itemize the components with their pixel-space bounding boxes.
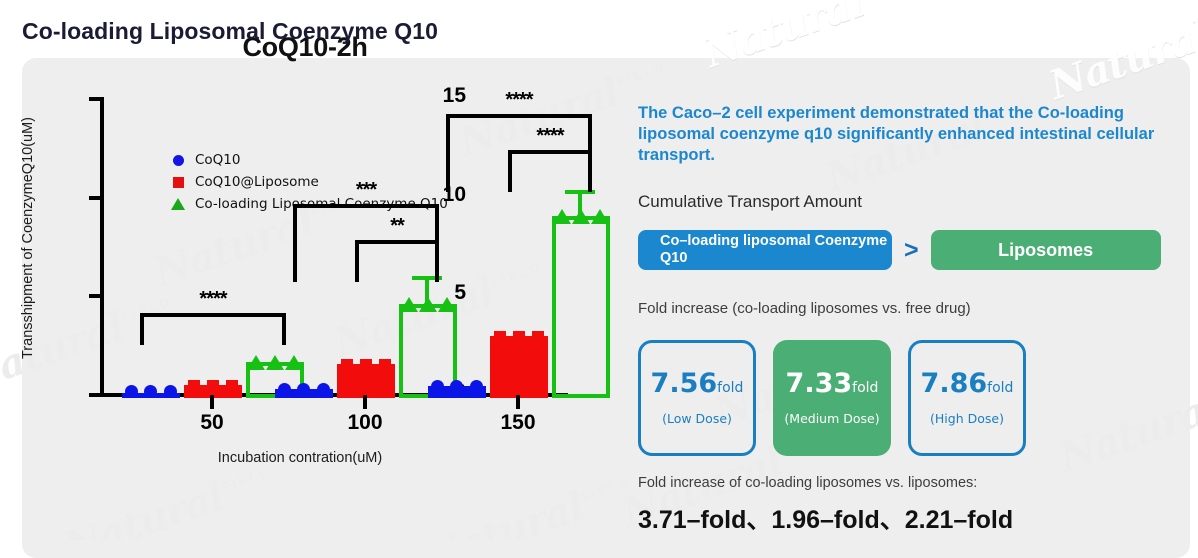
bottom-fold-values: 3.71–fold、1.96–fold、2.21–fold <box>638 500 1013 536</box>
fold-box-low-dose: 7.56fold (Low Dose) <box>638 340 756 456</box>
fold-value: 7.86 <box>921 368 988 399</box>
fold-box-high-dose: 7.86fold (High Dose) <box>908 340 1026 456</box>
significance-stars: *** <box>293 179 439 202</box>
x-tick <box>516 395 520 409</box>
datapoints-liposome-50 <box>184 380 242 392</box>
datapoints-coq10-150 <box>428 380 486 393</box>
fold-increase-caption: Fold increase (co-loading liposomes vs. … <box>638 300 971 317</box>
pill-coloading-liposomal[interactable]: Co–loading liposomal Coenzyme Q10 <box>638 230 892 270</box>
significance-stars: **** <box>446 89 592 112</box>
bottom-caption: Fold increase of co-loading liposomes vs… <box>638 475 977 491</box>
fold-value-row: 7.56fold <box>651 370 744 397</box>
datapoints-coq10-50 <box>122 385 180 398</box>
fold-unit: fold <box>852 380 878 396</box>
datapoints-coloading-150 <box>552 209 610 224</box>
datapoints-coloading-100 <box>399 297 457 312</box>
greater-than-icon: > <box>904 238 919 263</box>
datapoints-liposome-150 <box>490 331 548 343</box>
fold-dose-label: (High Dose) <box>930 411 1004 426</box>
x-tick <box>363 395 367 409</box>
fold-dose-label: (Medium Dose) <box>784 411 879 426</box>
y-axis-label: Transshipment of CoenzymeQ10(uM) <box>20 88 36 388</box>
y-tick <box>89 393 100 397</box>
y-tick <box>89 294 100 298</box>
fold-value-row: 7.33fold <box>786 370 879 397</box>
bar-coloading-150 <box>552 216 610 398</box>
chart-panel: CoQ10-2h Transshipment of CoenzymeQ10(uM… <box>0 0 610 500</box>
significance-bracket-50: **** <box>140 313 286 345</box>
headline-text: The Caco–2 cell experiment demonstrated … <box>638 103 1183 166</box>
significance-bracket-150-inner: **** <box>508 150 592 192</box>
x-tick-label: 100 <box>347 411 382 435</box>
fold-value-row: 7.86fold <box>921 370 1014 397</box>
fold-dose-label: (Low Dose) <box>662 411 732 426</box>
comparison-row: Co–loading liposomal Coenzyme Q10 > Lipo… <box>638 230 1161 270</box>
x-axis-label: Incubation contration(uM) <box>90 450 510 466</box>
fold-box-medium-dose: 7.33fold (Medium Dose) <box>773 340 891 456</box>
significance-stars: ** <box>355 215 439 238</box>
y-tick <box>89 196 100 200</box>
significance-stars: **** <box>140 288 286 311</box>
fold-value: 7.33 <box>786 368 853 399</box>
fold-value: 7.56 <box>651 368 718 399</box>
x-tick-label: 50 <box>200 411 223 435</box>
datapoints-coloading-50 <box>246 355 304 370</box>
y-tick <box>89 97 100 101</box>
fold-unit: fold <box>717 380 743 396</box>
significance-stars: **** <box>508 125 592 148</box>
datapoints-coq10-100 <box>275 383 333 396</box>
plot-area: 0 5 10 15 **** 50 <box>100 95 570 400</box>
pill-liposomes[interactable]: Liposomes <box>931 230 1161 270</box>
fold-box-group: 7.56fold (Low Dose) 7.33fold (Medium Dos… <box>638 340 1026 456</box>
x-tick-label: 150 <box>500 411 535 435</box>
significance-bracket-100-inner: ** <box>355 240 439 282</box>
x-tick <box>210 395 214 409</box>
fold-unit: fold <box>987 380 1013 396</box>
page-title: Co-loading Liposomal Coenzyme Q10 <box>22 18 438 45</box>
right-panel: The Caco–2 cell experiment demonstrated … <box>638 0 1198 540</box>
y-axis <box>100 97 104 397</box>
cumulative-transport-label: Cumulative Transport Amount <box>638 192 862 212</box>
datapoints-liposome-100 <box>337 359 395 371</box>
bar-liposome-150 <box>490 336 548 398</box>
